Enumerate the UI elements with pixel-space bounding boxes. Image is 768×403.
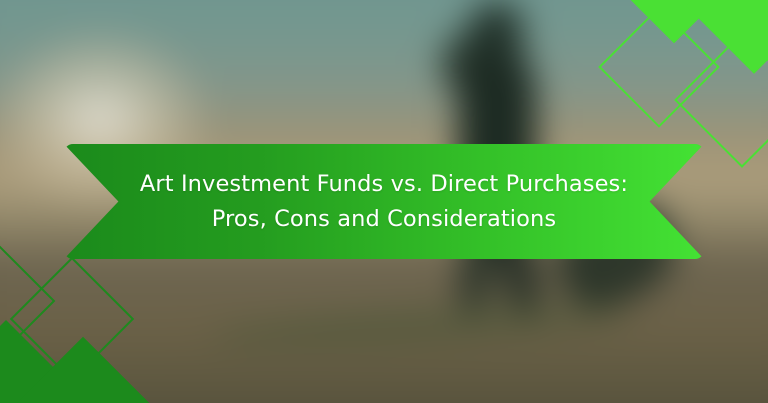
banner-title: Art Investment Funds vs. Direct Purchase… <box>64 144 704 259</box>
banner-title-line-1: Art Investment Funds vs. Direct Purchase… <box>140 170 628 199</box>
blog-header-banner: Art Investment Funds vs. Direct Purchase… <box>0 0 768 403</box>
banner-title-line-2: Pros, Cons and Considerations <box>212 205 556 234</box>
